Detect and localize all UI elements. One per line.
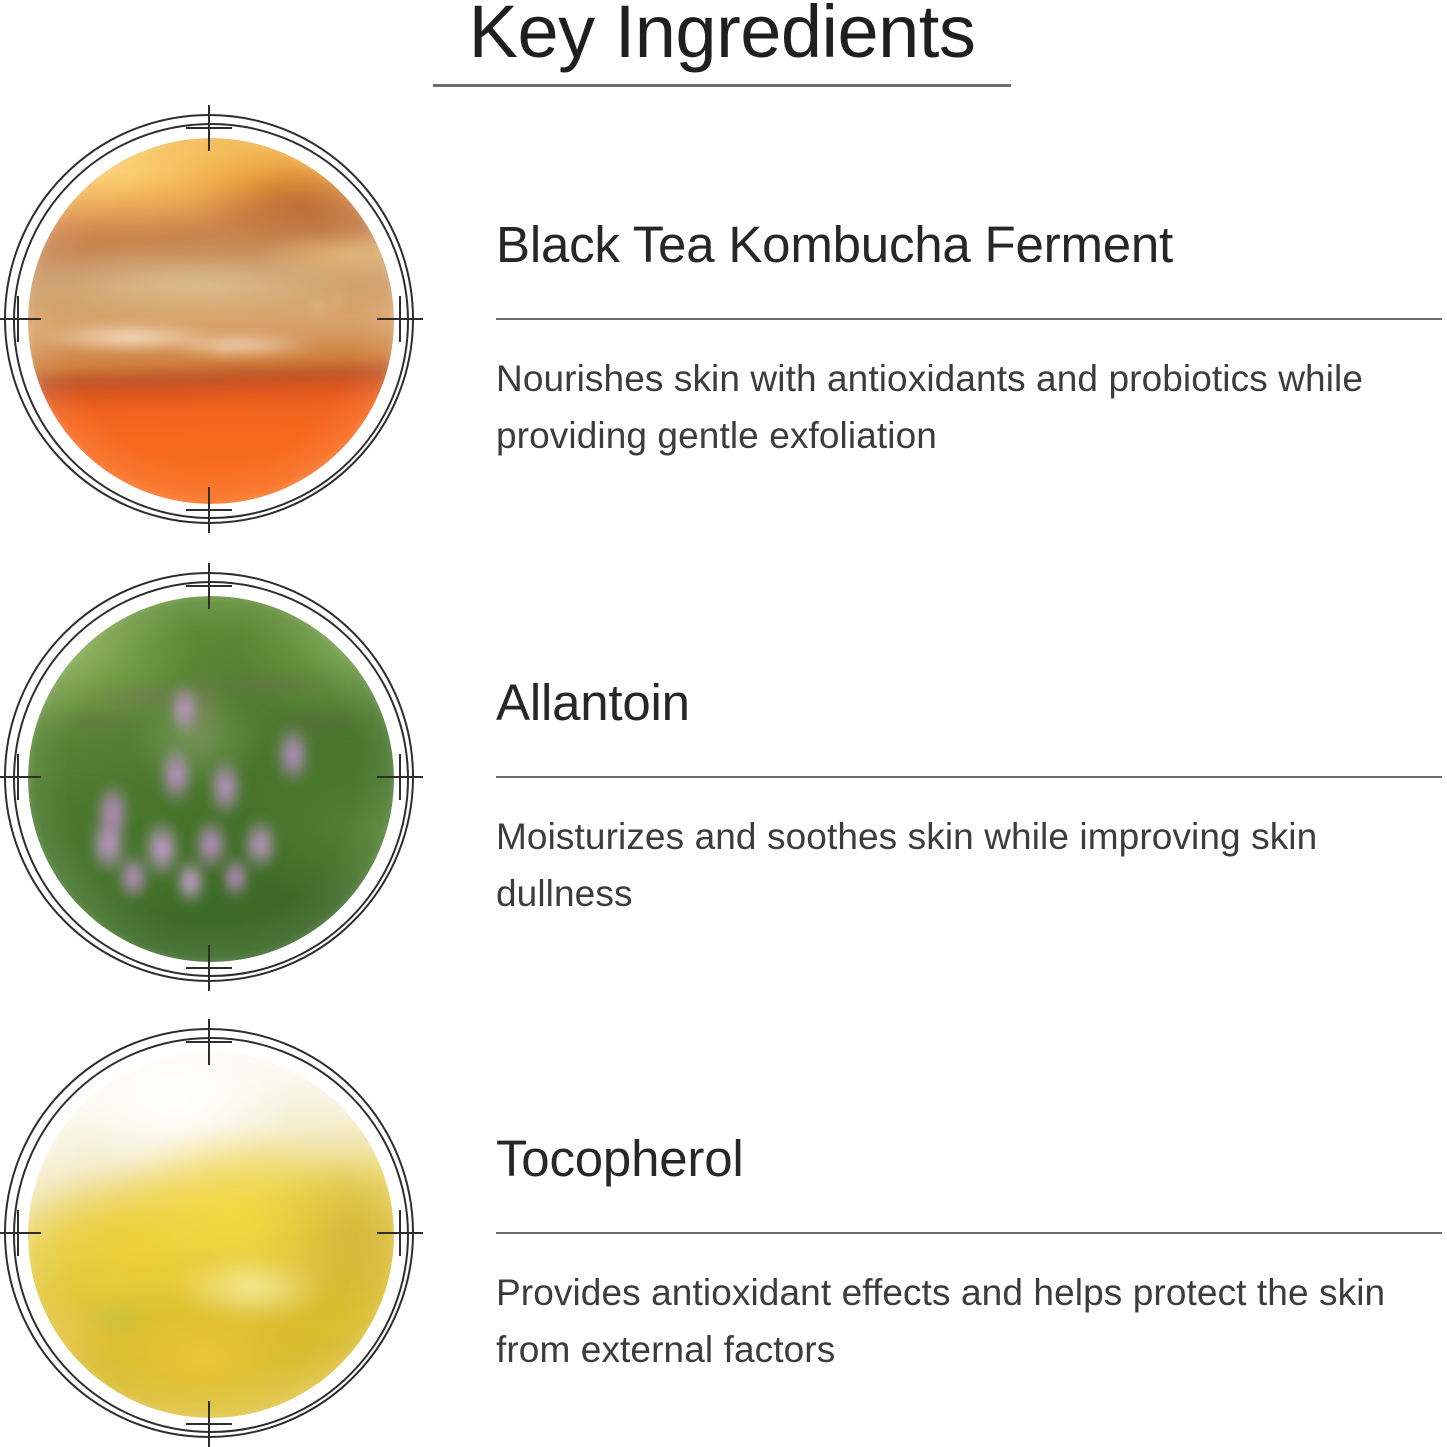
ingredient-divider xyxy=(496,776,1442,778)
ingredient-row: Black Tea Kombucha Ferment Nourishes ski… xyxy=(0,110,1447,530)
title-underline-divider xyxy=(433,84,1011,87)
crosshair-icon xyxy=(186,105,232,151)
crosshair-icon xyxy=(377,296,423,342)
crosshair-icon xyxy=(186,945,232,991)
badge-inner-ring xyxy=(13,123,409,519)
ingredient-description: Provides antioxidant effects and helps p… xyxy=(496,1264,1446,1378)
ingredient-divider xyxy=(496,1232,1442,1234)
ingredient-row: Allantoin Moisturizes and soothes skin w… xyxy=(0,568,1447,988)
badge-inner-ring xyxy=(13,1037,409,1433)
crosshair-icon xyxy=(0,296,41,342)
crosshair-icon xyxy=(186,1019,232,1065)
ingredient-divider xyxy=(496,318,1442,320)
ingredient-text-column: Tocopherol Provides antioxidant effects … xyxy=(496,1024,1442,1444)
badge-inner-ring xyxy=(13,581,409,977)
ingredient-text-column: Black Tea Kombucha Ferment Nourishes ski… xyxy=(496,110,1442,530)
crosshair-icon xyxy=(186,487,232,533)
ingredient-name: Black Tea Kombucha Ferment xyxy=(496,214,1442,276)
ingredient-image-badge xyxy=(4,572,418,986)
crosshair-icon xyxy=(377,1210,423,1256)
ingredient-text-column: Allantoin Moisturizes and soothes skin w… xyxy=(496,568,1442,988)
crosshair-icon xyxy=(0,754,41,800)
crosshair-icon xyxy=(186,563,232,609)
crosshair-icon xyxy=(377,754,423,800)
ingredient-row: Tocopherol Provides antioxidant effects … xyxy=(0,1024,1447,1444)
crosshair-icon xyxy=(0,1210,41,1256)
ingredient-description: Moisturizes and soothes skin while impro… xyxy=(496,808,1446,922)
ingredient-name: Tocopherol xyxy=(496,1128,1442,1190)
crosshair-icon xyxy=(186,1401,232,1447)
ingredient-description: Nourishes skin with antioxidants and pro… xyxy=(496,350,1446,464)
page-header: Key Ingredients xyxy=(0,0,1447,110)
page-title: Key Ingredients xyxy=(432,0,1012,80)
ingredient-name: Allantoin xyxy=(496,672,1442,734)
ingredient-image-badge xyxy=(4,114,418,528)
ingredient-image-badge xyxy=(4,1028,418,1442)
